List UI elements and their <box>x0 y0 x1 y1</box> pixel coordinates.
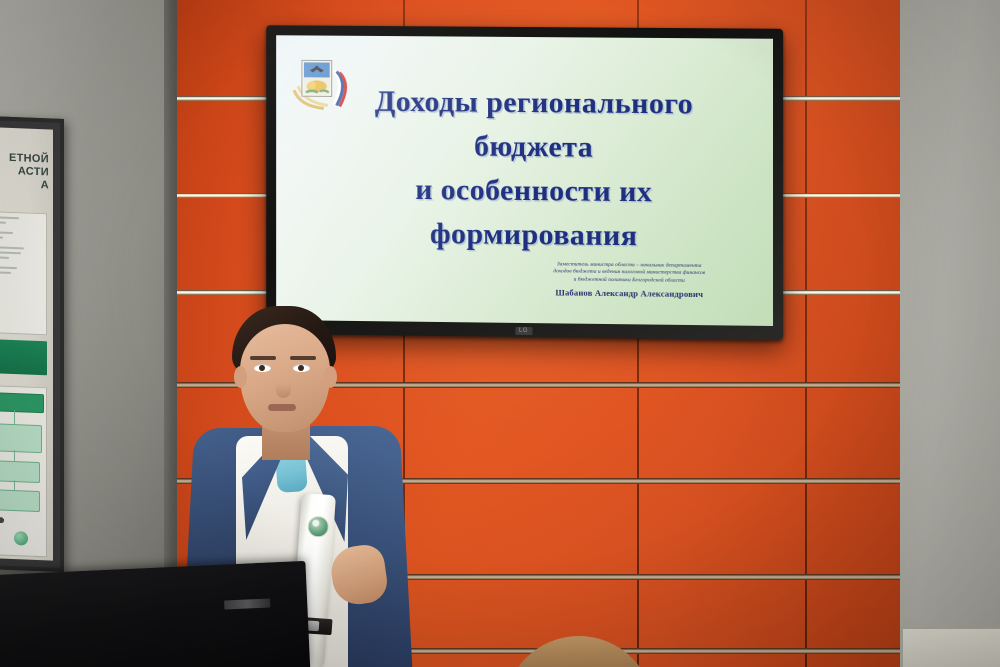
wall-poster-frame: ЕТНОЙ АСТИ А <box>0 115 64 572</box>
slide-title-line-3: и особенности их <box>334 167 735 215</box>
mouth <box>268 404 296 411</box>
wall-poster-sheet: ЕТНОЙ АСТИ А <box>0 126 53 560</box>
flow-connector <box>14 410 15 424</box>
slide-title-line-4: формирования <box>334 211 735 259</box>
slide-title: Доходы регионального бюджета и особеннос… <box>334 80 735 260</box>
flow-connector <box>14 480 15 490</box>
wall-poster-text-lines <box>0 216 41 278</box>
poster-person-figure <box>0 516 10 543</box>
display-screen: Доходы регионального бюджета и особеннос… <box>276 35 773 326</box>
ear-left <box>234 366 247 388</box>
flow-connector <box>14 450 15 461</box>
flow-node <box>0 460 40 483</box>
wall-poster-title-line: АСТИ <box>18 165 49 178</box>
monitor-brand-badge <box>224 598 270 609</box>
foreground-monitor[interactable] <box>0 561 310 667</box>
flow-node <box>0 423 42 453</box>
poster-status-dot <box>14 531 28 546</box>
eye-right <box>293 364 310 372</box>
ear-right <box>324 366 337 388</box>
nose <box>276 374 291 398</box>
wall-poster-text-block <box>0 211 47 336</box>
wall-poster-title-line: ЕТНОЙ <box>9 152 49 166</box>
slide-title-line-1: Доходы регионального <box>334 80 735 127</box>
slide-byline: Заместитель министра области – начальник… <box>514 261 745 300</box>
gray-wall-right <box>900 0 1000 667</box>
slide-title-line-2: бюджета <box>334 123 735 171</box>
flow-node <box>0 489 40 512</box>
presentation-room-photo: ЕТНОЙ АСТИ А <box>0 0 1000 667</box>
wall-poster-title: ЕТНОЙ АСТИ А <box>0 151 49 193</box>
slide-byline-name: Шабанов Александр Александрович <box>514 287 745 300</box>
wall-poster-flowchart <box>0 385 47 558</box>
eyebrow-right <box>290 356 316 360</box>
cabinet-edge <box>903 627 1000 667</box>
wall-poster-title-line: А <box>41 179 49 191</box>
wall-mounted-display[interactable]: Доходы регионального бюджета и особеннос… <box>266 25 783 340</box>
eyebrow-left <box>250 356 276 360</box>
wall-poster-green-banner <box>0 339 47 376</box>
eye-left <box>254 364 271 372</box>
flow-node <box>0 392 44 413</box>
display-brand-logo: LG <box>515 327 532 335</box>
slide-byline-role-line: и бюджетной политики Белгородской област… <box>514 276 745 286</box>
poster-sticker-icon <box>307 516 329 538</box>
